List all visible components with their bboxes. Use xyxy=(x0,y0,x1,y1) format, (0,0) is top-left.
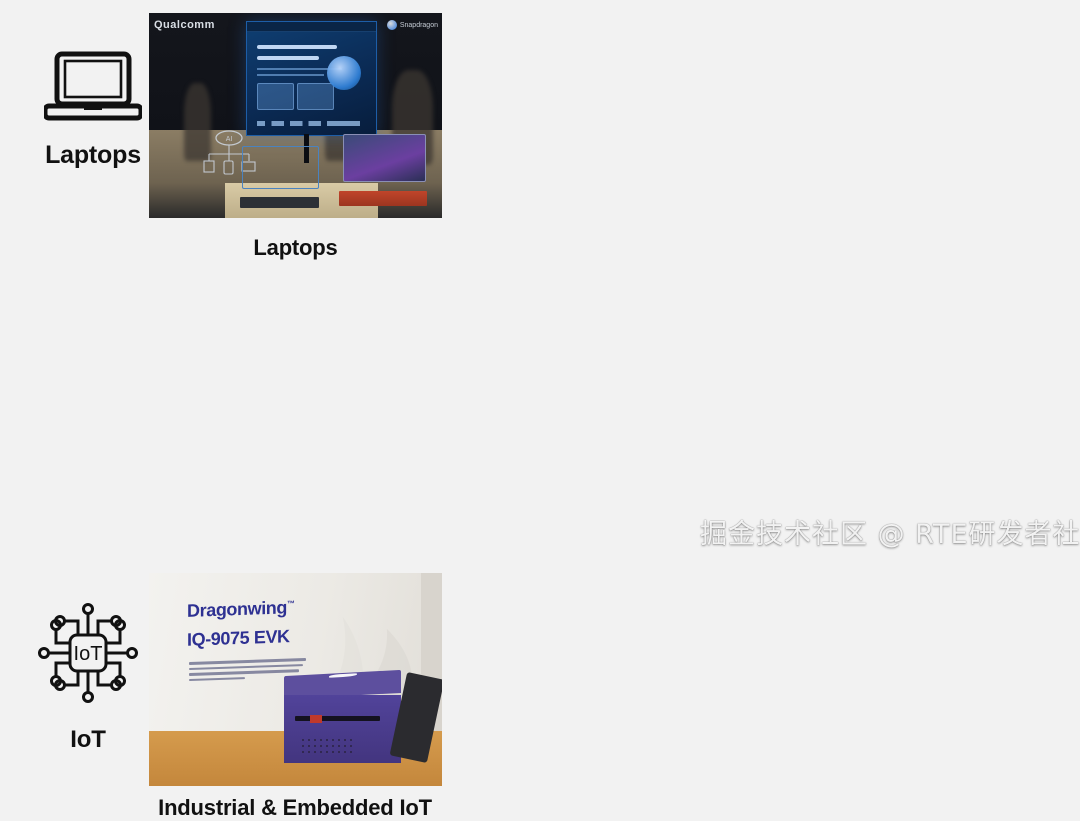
panel-smartphones: Smartphones xyxy=(540,0,1080,279)
iot-chip-icon: IoT xyxy=(32,597,144,714)
iot-photo-caption: Industrial & Embedded IoT xyxy=(130,795,460,821)
device-category-grid: Laptops Qualcomm Snapdragon xyxy=(0,0,1080,558)
qualcomm-wordmark: Qualcomm xyxy=(154,19,215,31)
iot-icon-label: IoT xyxy=(70,726,105,754)
laptops-photo-caption: Laptops xyxy=(149,235,442,261)
svg-text:IoT: IoT xyxy=(74,643,103,665)
iot-dev-kit xyxy=(284,673,401,762)
laptops-icon-label: Laptops xyxy=(45,141,141,170)
panel-iot: IoT IoT Dragonwing™ IQ-9075 EVK xyxy=(0,279,540,558)
snapdragon-wordmark: Snapdragon xyxy=(387,20,438,30)
laptops-photo: Qualcomm Snapdragon AI xyxy=(149,13,442,218)
iot-box-title-line2: IQ-9075 EVK xyxy=(187,627,290,652)
laptop-icon xyxy=(44,48,142,131)
booth-display-screen xyxy=(246,21,377,136)
svg-text:AI: AI xyxy=(225,136,232,143)
panel-automotive: Automotive xyxy=(540,279,1080,558)
iot-icon-block: IoT IoT xyxy=(8,597,168,754)
panel-laptops: Laptops Qualcomm Snapdragon xyxy=(0,0,540,279)
iot-box-title-line1: Dragonwing™ xyxy=(187,597,295,622)
iot-photo: Dragonwing™ IQ-9075 EVK xyxy=(149,573,442,786)
